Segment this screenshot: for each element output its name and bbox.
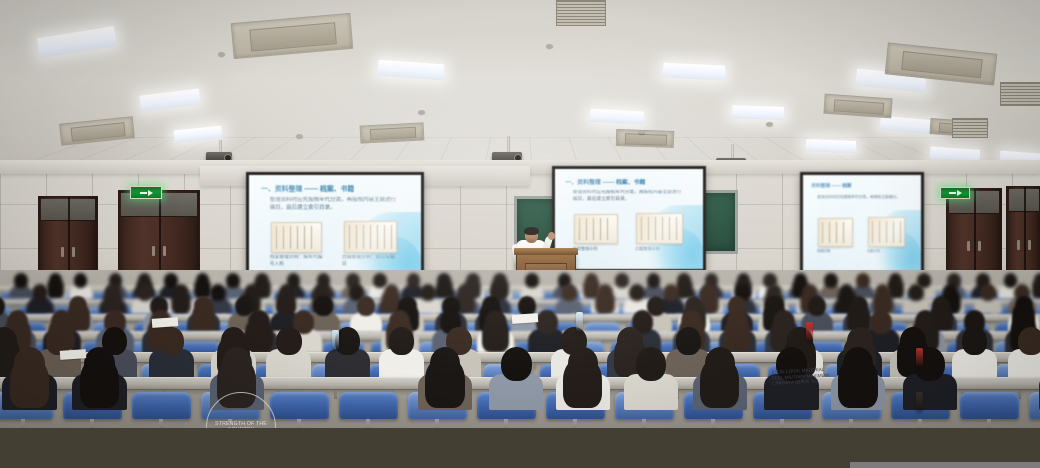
projection-screen-right-slide: 资料整理 —— 档案整理资料时应先按照年代分类，再按照主题编目。档案示例古籍示例 [803, 175, 921, 271]
exit-sign-right-arrow-icon [957, 190, 962, 196]
projection-screen-left-figure-right-tint [345, 222, 397, 252]
projection-screen-right[interactable]: 资料整理 —— 档案整理资料时应先按照年代分类，再按照主题编目。档案示例古籍示例 [800, 172, 924, 274]
projection-screen-center-caption-right: 古籍整理示例 [635, 246, 682, 264]
smoke-detector [546, 44, 553, 48]
wall-vent-grille [952, 118, 988, 138]
projection-screen-right-slide-title: 资料整理 —— 档案 [811, 183, 910, 189]
projection-screen-right-caption-right: 古籍示例 [867, 249, 905, 266]
smoke-detector [766, 122, 773, 126]
lecture-hall-door-far-right-handle-2 [1028, 240, 1031, 250]
ac-diffuser-core [901, 51, 982, 79]
smoke-detector [218, 52, 225, 56]
ac-diffuser-core [249, 22, 338, 51]
projection-screen-center-figure-left [574, 214, 617, 244]
projection-screen-left-slide-paragraph: 整理资料时应先按照年代分类，再按照内容主题进行编目，最后建立索引目录。 [270, 197, 401, 218]
projection-screen-center-slide-title: 一、资料整理 —— 档案、书籍 [565, 177, 689, 186]
lecture-hall-door-center-left-handle [152, 246, 155, 256]
lecture-hall-door-right-handle [967, 241, 970, 251]
projection-screen-left-slide-title: 一、资料整理 —— 档案、书籍 [261, 183, 405, 193]
lecture-hall-door-right-handle-2 [978, 241, 981, 251]
exit-sign-right-bar [949, 192, 956, 194]
lecture-hall-door-left-handle [61, 247, 64, 257]
projection-screen-left[interactable]: 一、资料整理 —— 档案、书籍整理资料时应先按照年代分类，再按照内容主题进行编目… [246, 172, 424, 282]
exit-sign-left-arrow-icon [148, 190, 153, 196]
horizontal-scrollbar[interactable] [850, 462, 1040, 468]
ac-diffuser-core [369, 127, 416, 141]
lecturer-hair [524, 227, 539, 235]
projection-screen-right-figure-left [818, 218, 853, 247]
exit-sign-left [130, 186, 162, 199]
ceiling-light-panel [806, 139, 856, 153]
lecture-hall-door-center-left-handle-2 [163, 246, 166, 256]
projection-screen-center-figure-left-tint [575, 215, 616, 243]
exit-sign-right [940, 187, 970, 199]
ac-diffuser [616, 129, 675, 148]
projection-screen-right-slide-paragraph: 整理资料时应先按照年代分类，再按照主题编目。 [817, 195, 907, 214]
projection-screen-left-figure-left [271, 222, 321, 253]
projection-screen-center-figure-right [636, 213, 682, 244]
projection-screen-center-figure-right-tint [637, 214, 681, 243]
projection-screen-left-figure-right [344, 221, 398, 253]
projection-screen-right-figure-left-tint [819, 219, 852, 246]
ac-diffuser [360, 122, 425, 143]
ceiling-light-panel [663, 62, 726, 80]
ceiling-projector-pole [731, 144, 734, 158]
smoke-detector [296, 134, 303, 138]
ceiling-projector-pole [507, 136, 510, 152]
ac-diffuser-core [71, 122, 126, 141]
projection-screen-left-figure-left-tint [272, 223, 320, 252]
ceiling-light-panel [732, 105, 784, 120]
ceiling-projector-pole [219, 140, 222, 152]
projection-screen-center-caption-left: 档案整理示例 [573, 246, 619, 264]
projection-screen-right-caption-left: 档案示例 [817, 249, 854, 266]
ac-diffuser-core [834, 99, 884, 115]
smoke-detector [418, 110, 425, 114]
projection-screen-left-slide: 一、资料整理 —— 档案、书籍整理资料时应先按照年代分类，再按照内容主题进行编目… [249, 175, 421, 279]
lecture-hall-door-left-handle-2 [72, 247, 75, 257]
projection-screen-center-slide-paragraph: 整理资料时应先按照年代分类，再按照内容主题进行编目，最后建立索引目录。 [573, 190, 685, 210]
lecture-hall-door-far-right-handle [1017, 240, 1020, 250]
lectern-top-surface [514, 248, 578, 255]
exit-sign-left-bar [140, 192, 147, 194]
ceiling [0, 0, 1040, 182]
lecturer-raised-hand [548, 232, 555, 240]
smoke-detector [638, 130, 645, 134]
wall-vent-grille [1000, 82, 1040, 106]
white-tshirt-print: IDEAL LOGIC MATERIAL FEEL MILITARY MAXIM… [772, 366, 835, 386]
wall-vent-grille [556, 0, 606, 26]
projection-screen-right-figure-right-tint [869, 218, 904, 246]
projection-screen-right-figure-right [868, 217, 905, 247]
ac-diffuser-core [625, 133, 668, 145]
ceiling-light-panel [590, 109, 645, 125]
lecture-hall-photo: 一、资料整理 —— 档案、书籍整理资料时应先按照年代分类，再按照内容主题进行编目… [0, 0, 1040, 468]
